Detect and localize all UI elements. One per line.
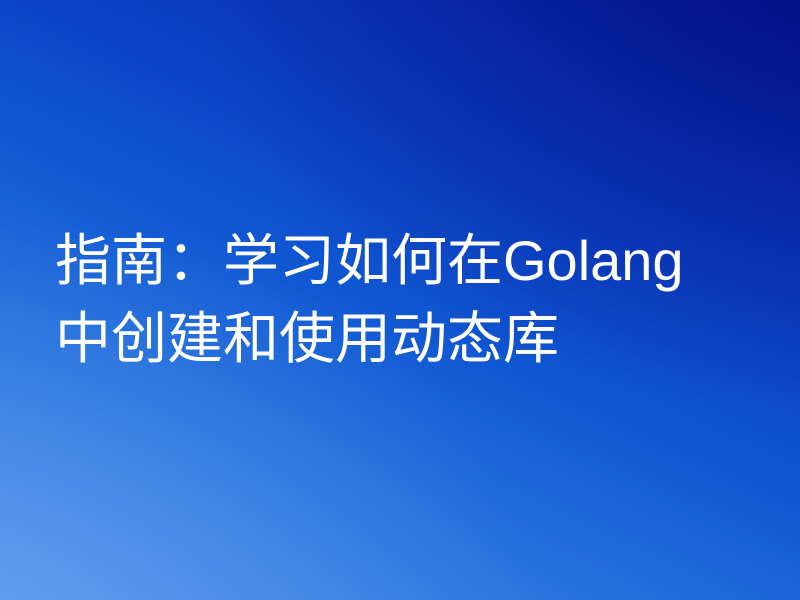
title-block: 指南：学习如何在Golang中创建和使用动态库 (0, 222, 800, 378)
page-title: 指南：学习如何在Golang中创建和使用动态库 (55, 222, 715, 378)
title-card: 指南：学习如何在Golang中创建和使用动态库 (0, 0, 800, 600)
